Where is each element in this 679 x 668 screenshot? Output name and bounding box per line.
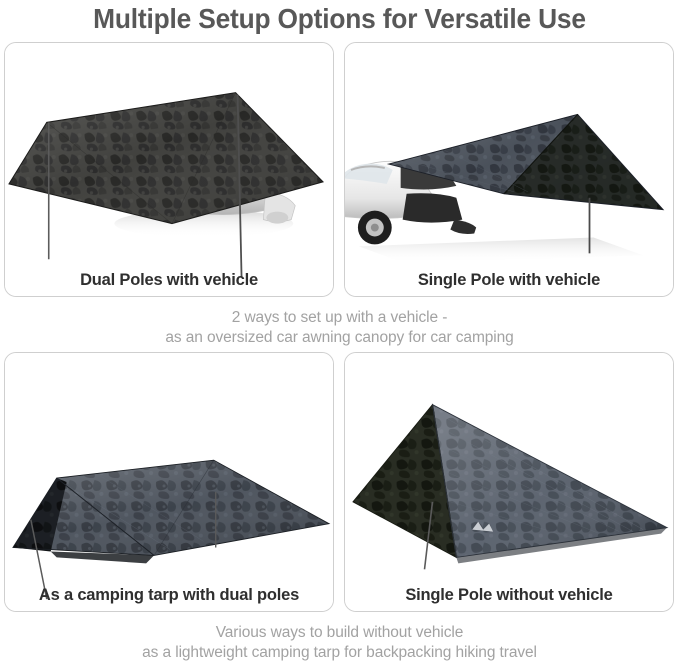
panel-caption-single-pole-with-vehicle: Single Pole with vehicle [345, 271, 673, 290]
with-vehicle-description: 2 ways to set up with a vehicle - as an … [0, 308, 679, 348]
panel-single-pole-without-vehicle: Single Pole without vehicle [344, 352, 674, 612]
page-title: Multiple Setup Options for Versatile Use [20, 0, 658, 40]
panel-caption-dual-poles-with-vehicle: Dual Poles with vehicle [5, 271, 333, 290]
without-vehicle-description-line-2: as a lightweight camping tarp for backpa… [0, 643, 679, 663]
panel-camping-tarp-dual-poles: As a camping tarp with dual poles [4, 352, 334, 612]
panel-caption-camping-tarp-dual-poles: As a camping tarp with dual poles [5, 586, 333, 605]
with-vehicle-description-line-2: as an oversized car awning canopy for ca… [0, 328, 679, 348]
without-vehicle-description-line-1: Various ways to build without vehicle [0, 623, 679, 643]
scene-single-pole-without-vehicle [345, 353, 673, 611]
with-vehicle-description-line-1: 2 ways to set up with a vehicle - [0, 308, 679, 328]
scene-camping-tarp-dual-poles [5, 353, 333, 611]
scene-dual-poles-with-vehicle [5, 43, 333, 296]
without-vehicle-description: Various ways to build without vehicle as… [0, 623, 679, 663]
panel-dual-poles-with-vehicle: Dual Poles with vehicle [4, 42, 334, 297]
panel-single-pole-with-vehicle: Single Pole with vehicle [344, 42, 674, 297]
scene-single-pole-with-vehicle [345, 43, 673, 296]
product-feature-image: Multiple Setup Options for Versatile Use [0, 0, 679, 668]
panel-caption-single-pole-without-vehicle: Single Pole without vehicle [345, 586, 673, 605]
